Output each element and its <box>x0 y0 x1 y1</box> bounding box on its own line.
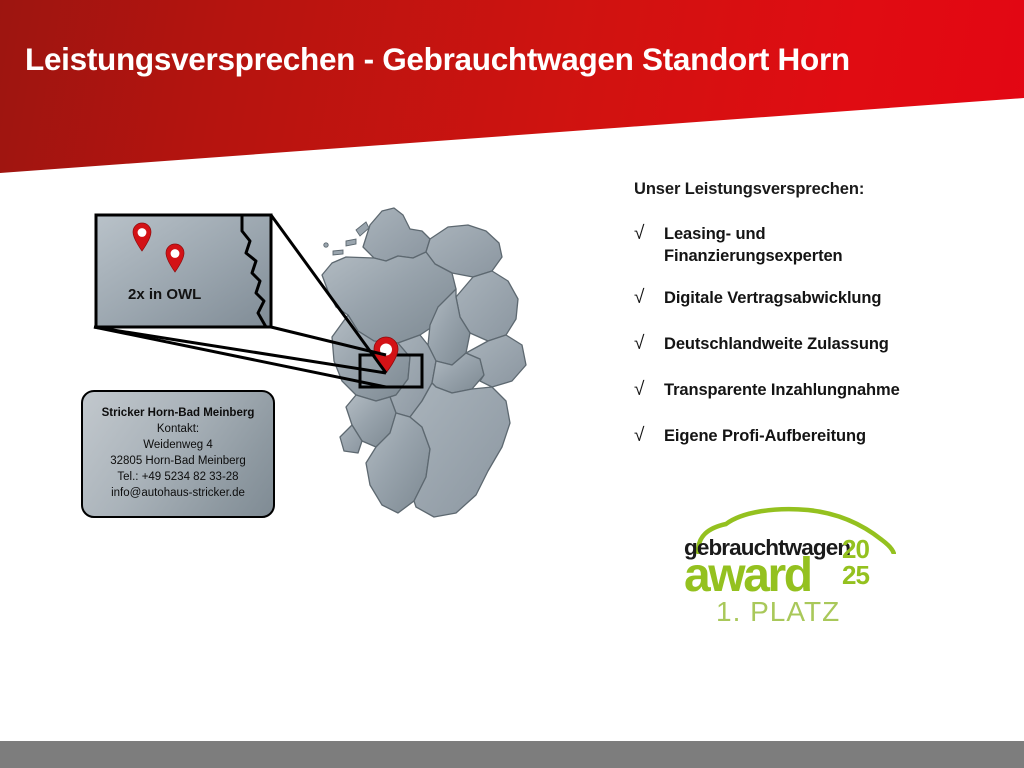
award-year-bottom: 25 <box>842 562 869 588</box>
check-icon: √ <box>634 287 664 309</box>
contact-line-city: 32805 Horn-Bad Meinberg <box>110 453 246 469</box>
promise-label: Transparente Inzahlungnahme <box>664 379 900 401</box>
promise-item: √ Leasing- und Finanzierungsexperten <box>634 223 1024 267</box>
promise-block: Unser Leistungsversprechen: √ Leasing- u… <box>634 180 1024 471</box>
check-icon: √ <box>634 333 664 355</box>
slide-root: Leistungsversprechen - Gebrauchtwagen St… <box>0 0 1024 768</box>
promise-item: √ Eigene Profi-Aufbereitung <box>634 425 1024 451</box>
award-word-main: award <box>684 551 811 601</box>
promise-label: Digitale Vertragsabwicklung <box>664 287 881 309</box>
header-banner <box>0 0 1024 180</box>
promise-item: √ Deutschlandweite Zulassung <box>634 333 1024 359</box>
promise-list: √ Leasing- und Finanzierungsexperten √ D… <box>634 223 1024 451</box>
contact-line-street: Weidenweg 4 <box>143 437 212 453</box>
promise-heading: Unser Leistungsversprechen: <box>634 180 1024 199</box>
check-icon: √ <box>634 425 664 447</box>
promise-label: Eigene Profi-Aufbereitung <box>664 425 866 447</box>
contact-line-email: info@autohaus-stricker.de <box>111 485 245 501</box>
promise-item: √ Transparente Inzahlungnahme <box>634 379 1024 405</box>
award-logo: gebrauchtwagen award 20 25 1. PLATZ <box>684 506 896 628</box>
contact-box: Stricker Horn-Bad Meinberg Kontakt: Weid… <box>81 390 275 518</box>
promise-label: Leasing- und Finanzierungsexperten <box>664 223 843 267</box>
promise-item: √ Digitale Vertragsabwicklung <box>634 287 1024 313</box>
brand-bar: Horn Nutzfahrzeuge Service SKODA Service <box>0 655 1024 740</box>
award-year-top: 20 <box>842 536 869 562</box>
page-title: Leistungsversprechen - Gebrauchtwagen St… <box>25 41 850 78</box>
contact-line-kontakt: Kontakt: <box>157 421 199 437</box>
contact-name: Stricker Horn-Bad Meinberg <box>102 407 255 419</box>
inset-label: 2x in OWL <box>128 286 201 303</box>
check-icon: √ <box>634 223 664 245</box>
award-year: 20 25 <box>842 536 869 588</box>
contact-line-phone: Tel.: +49 5234 82 33-28 <box>117 469 238 485</box>
award-place: 1. PLATZ <box>716 596 840 628</box>
check-icon: √ <box>634 379 664 401</box>
promise-label: Deutschlandweite Zulassung <box>664 333 889 355</box>
footer-bar <box>0 741 1024 768</box>
